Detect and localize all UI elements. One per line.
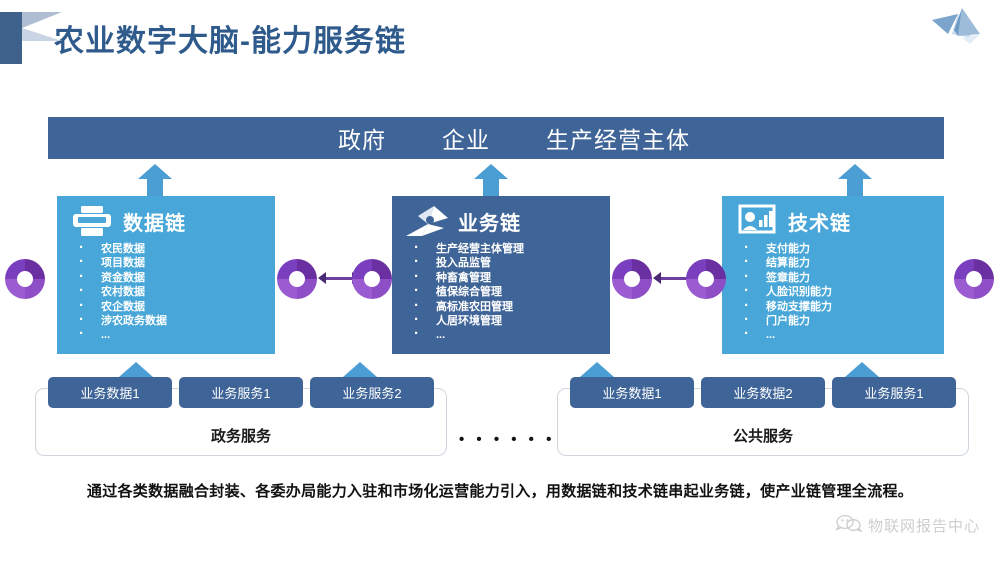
separator-dots: • • • • • •: [459, 431, 555, 448]
up-arrow-icon-tech-to-band: [838, 164, 872, 196]
chain-card-data-list: 农民数据 项目数据 资金数据 农村数据 农企数据 涉农政务数据 ...: [57, 242, 275, 343]
list-item: 高标准农田管理: [410, 300, 610, 314]
service-box-gov-chips: 业务数据1 业务服务1 业务服务2: [48, 377, 434, 408]
donut-ring-icon-left: [5, 259, 45, 299]
service-chip[interactable]: 业务数据1: [570, 377, 694, 408]
page-header: 农业数字大脑-能力服务链: [0, 12, 406, 64]
chain-card-tech-header: 技术链: [722, 196, 944, 240]
wechat-icon: [836, 514, 862, 537]
audience-item-government: 政府: [338, 121, 386, 155]
list-item: 种畜禽管理: [410, 271, 610, 285]
watermark: 物联网报告中心: [836, 514, 980, 537]
list-item: 资金数据: [75, 271, 275, 285]
chain-card-tech-list: 支付能力 结算能力 签章能力 人脸识别能力 移动支撑能力 门户能力 ...: [722, 242, 944, 343]
list-item: 项目数据: [75, 256, 275, 270]
service-box-public-chips: 业务数据1 业务数据2 业务服务1: [570, 377, 956, 408]
audience-item-enterprise: 企业: [442, 121, 490, 155]
list-item: 人脸识别能力: [740, 285, 944, 299]
donut-ring-icon-business-right: [612, 259, 652, 299]
list-item: 生产经营主体管理: [410, 242, 610, 256]
chain-card-business-list: 生产经营主体管理 投入品监管 种畜禽管理 植保综合管理 高标准农田管理 人居环境…: [392, 242, 610, 343]
list-item: 植保综合管理: [410, 285, 610, 299]
analytics-board-icon: [734, 204, 780, 238]
service-chip[interactable]: 业务数据1: [48, 377, 172, 408]
list-item: ...: [410, 328, 610, 342]
donut-ring-icon-tech-left: [686, 259, 726, 299]
paper-plane-deco-icon: [928, 4, 990, 48]
donut-ring-icon-data-right: [277, 259, 317, 299]
list-item: 农村数据: [75, 285, 275, 299]
slide-canvas: 农业数字大脑-能力服务链 政府 企业 生产经营主体: [0, 0, 1000, 562]
up-arrow-icon-data-to-band: [138, 164, 172, 196]
service-box-public-caption: 公共服务: [558, 425, 968, 446]
chain-card-business-header: 业务链: [392, 196, 610, 240]
list-item: 结算能力: [740, 256, 944, 270]
list-item: 人居环境管理: [410, 314, 610, 328]
connector-link-business-tech: [660, 277, 688, 280]
audience-band: 政府 企业 生产经营主体: [48, 117, 944, 159]
service-box-gov-caption: 政务服务: [36, 425, 446, 446]
summary-caption: 通过各类数据融合封装、各委办局能力入驻和市场化运营能力引入，用数据链和技术链串起…: [0, 480, 1000, 501]
service-chip[interactable]: 业务服务1: [832, 377, 956, 408]
header-accent-bar: [0, 12, 22, 64]
service-chip[interactable]: 业务服务2: [310, 377, 434, 408]
service-chip[interactable]: 业务服务1: [179, 377, 303, 408]
list-item: 门户能力: [740, 314, 944, 328]
pen-nib-icon: [404, 204, 450, 238]
watermark-text: 物联网报告中心: [868, 515, 980, 536]
list-item: 签章能力: [740, 271, 944, 285]
list-item: ...: [75, 328, 275, 342]
service-box-gov[interactable]: 业务数据1 业务服务1 业务服务2 政务服务: [35, 388, 447, 456]
header-ribbon-icon: [22, 12, 62, 64]
list-item: 涉农政务数据: [75, 314, 275, 328]
connector-link-data-business: [325, 277, 353, 280]
chain-card-tech-title: 技术链: [788, 207, 851, 236]
chain-card-business-title: 业务链: [458, 207, 521, 236]
up-arrow-icon-business-to-band: [474, 164, 508, 196]
service-chip[interactable]: 业务数据2: [701, 377, 825, 408]
chain-card-data[interactable]: 数据链 农民数据 项目数据 资金数据 农村数据 农企数据 涉农政务数据 ...: [57, 196, 275, 354]
donut-ring-icon-right: [954, 259, 994, 299]
chain-card-data-title: 数据链: [123, 207, 186, 236]
service-box-public[interactable]: 业务数据1 业务数据2 业务服务1 公共服务: [557, 388, 969, 456]
printer-icon: [69, 204, 115, 238]
donut-ring-icon-business-left: [352, 259, 392, 299]
list-item: 农民数据: [75, 242, 275, 256]
audience-item-producer: 生产经营主体: [546, 121, 690, 155]
chain-card-data-header: 数据链: [57, 196, 275, 240]
chain-card-tech[interactable]: 技术链 支付能力 结算能力 签章能力 人脸识别能力 移动支撑能力 门户能力 ..…: [722, 196, 944, 354]
page-title: 农业数字大脑-能力服务链: [54, 16, 406, 60]
list-item: ...: [740, 328, 944, 342]
list-item: 农企数据: [75, 300, 275, 314]
list-item: 移动支撑能力: [740, 300, 944, 314]
chain-card-business[interactable]: 业务链 生产经营主体管理 投入品监管 种畜禽管理 植保综合管理 高标准农田管理 …: [392, 196, 610, 354]
list-item: 投入品监管: [410, 256, 610, 270]
list-item: 支付能力: [740, 242, 944, 256]
